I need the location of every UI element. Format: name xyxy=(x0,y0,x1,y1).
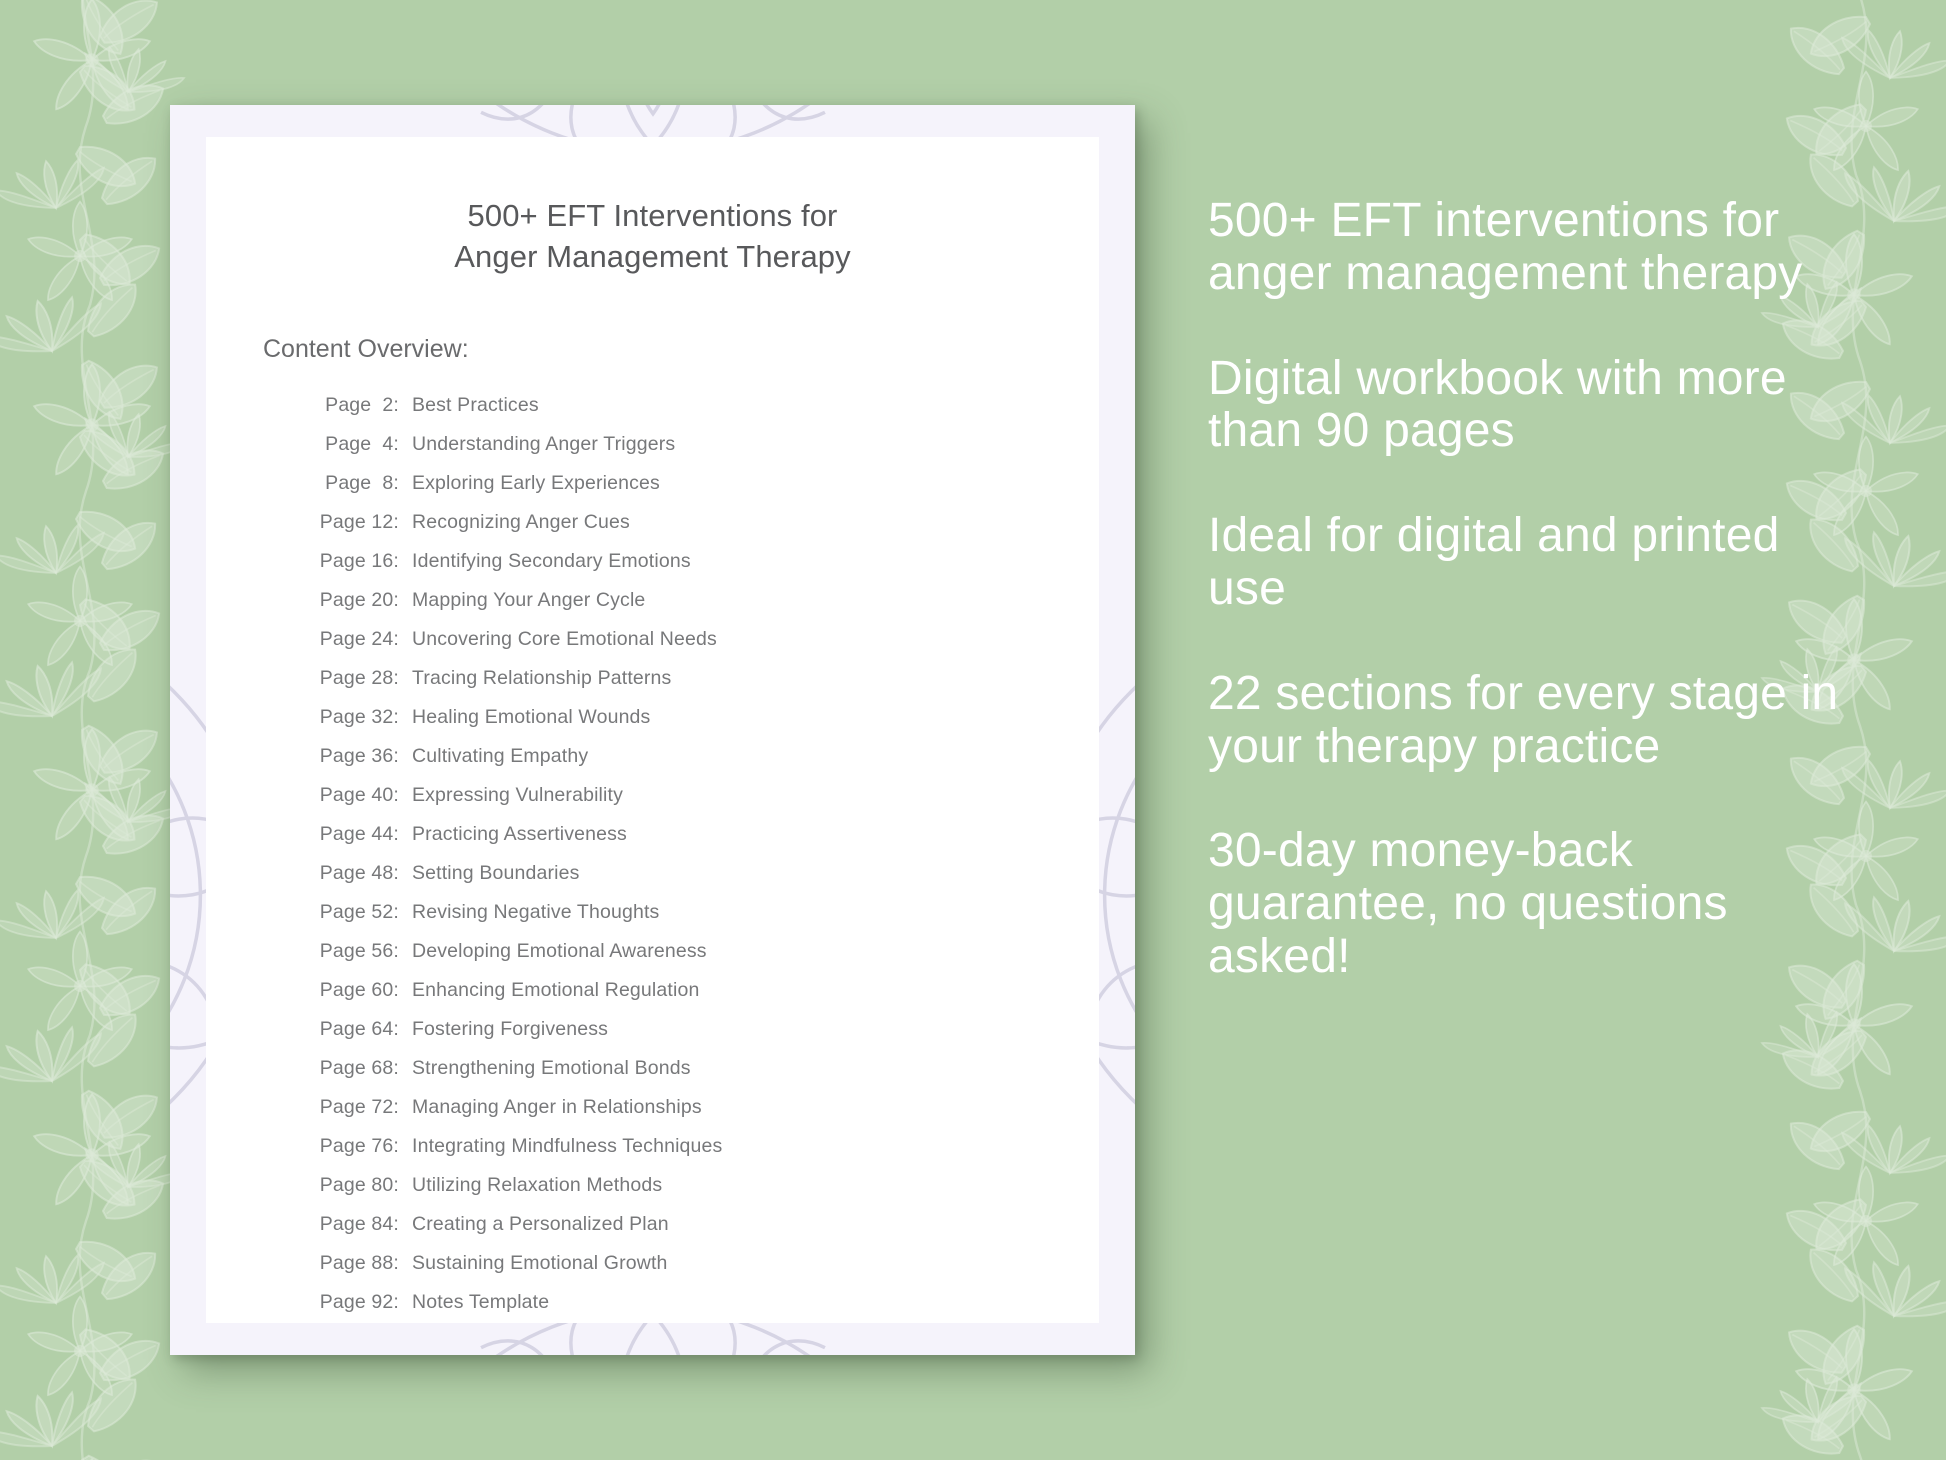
toc-page-number: Page 84: xyxy=(291,1213,399,1236)
promo-item: Ideal for digital and printed use xyxy=(1208,510,1848,616)
toc-row: Page 16:Identifying Secondary Emotions xyxy=(291,550,1099,589)
toc-row: Page 48:Setting Boundaries xyxy=(291,862,1099,901)
toc-section-title: Uncovering Core Emotional Needs xyxy=(412,628,717,651)
toc-page-number: Page 76: xyxy=(291,1135,399,1158)
toc-page-number: Page 36: xyxy=(291,745,399,768)
page-title-line-1: 500+ EFT Interventions for xyxy=(206,195,1099,236)
toc-row: Page 32:Healing Emotional Wounds xyxy=(291,706,1099,745)
toc-page-number: Page 24: xyxy=(291,628,399,651)
toc-row: Page 24:Uncovering Core Emotional Needs xyxy=(291,628,1099,667)
toc-section-title: Exploring Early Experiences xyxy=(412,472,660,495)
toc-page-number: Page 8: xyxy=(291,472,399,495)
toc-section-title: Recognizing Anger Cues xyxy=(412,511,630,534)
toc-section-title: Healing Emotional Wounds xyxy=(412,706,650,729)
toc-row: Page 64:Fostering Forgiveness xyxy=(291,1018,1099,1057)
toc-row: Page 36:Cultivating Empathy xyxy=(291,745,1099,784)
toc-section-title: Revising Negative Thoughts xyxy=(412,901,659,924)
toc-row: Page 52:Revising Negative Thoughts xyxy=(291,901,1099,940)
table-of-contents: Page 2:Best PracticesPage 4:Understandin… xyxy=(291,394,1099,1330)
toc-page-number: Page 16: xyxy=(291,550,399,573)
toc-section-title: Utilizing Relaxation Methods xyxy=(412,1174,662,1197)
toc-page-number: Page 52: xyxy=(291,901,399,924)
toc-row: Page 2:Best Practices xyxy=(291,394,1099,433)
promo-item: 500+ EFT interventions for anger managem… xyxy=(1208,195,1848,301)
toc-page-number: Page 20: xyxy=(291,589,399,612)
toc-row: Page 4:Understanding Anger Triggers xyxy=(291,433,1099,472)
toc-page-number: Page 2: xyxy=(291,394,399,417)
toc-section-title: Developing Emotional Awareness xyxy=(412,940,707,963)
toc-page-number: Page 4: xyxy=(291,433,399,456)
promo-item: 22 sections for every stage in your ther… xyxy=(1208,668,1848,774)
toc-page-number: Page 56: xyxy=(291,940,399,963)
toc-page-number: Page 80: xyxy=(291,1174,399,1197)
toc-page-number: Page 68: xyxy=(291,1057,399,1080)
toc-page-number: Page 72: xyxy=(291,1096,399,1119)
toc-row: Page 44:Practicing Assertiveness xyxy=(291,823,1099,862)
toc-row: Page 56:Developing Emotional Awareness xyxy=(291,940,1099,979)
toc-row: Page 12:Recognizing Anger Cues xyxy=(291,511,1099,550)
toc-section-title: Expressing Vulnerability xyxy=(412,784,623,807)
toc-row: Page 20:Mapping Your Anger Cycle xyxy=(291,589,1099,628)
page-title-line-2: Anger Management Therapy xyxy=(206,236,1099,277)
toc-page-number: Page 28: xyxy=(291,667,399,690)
page-sheet: 500+ EFT Interventions for Anger Managem… xyxy=(206,137,1099,1323)
toc-section-title: Mapping Your Anger Cycle xyxy=(412,589,645,612)
page-border: 500+ EFT Interventions for Anger Managem… xyxy=(170,105,1135,1355)
toc-row: Page 88:Sustaining Emotional Growth xyxy=(291,1252,1099,1291)
toc-page-number: Page 64: xyxy=(291,1018,399,1041)
toc-section-title: Managing Anger in Relationships xyxy=(412,1096,702,1119)
toc-section-title: Creating a Personalized Plan xyxy=(412,1213,669,1236)
toc-section-title: Practicing Assertiveness xyxy=(412,823,627,846)
toc-section-title: Identifying Secondary Emotions xyxy=(412,550,691,573)
toc-page-number: Page 92: xyxy=(291,1291,399,1314)
toc-section-title: Cultivating Empathy xyxy=(412,745,588,768)
toc-page-number: Page 40: xyxy=(291,784,399,807)
promo-item: 30-day money-back guarantee, no question… xyxy=(1208,825,1848,983)
toc-section-title: Integrating Mindfulness Techniques xyxy=(412,1135,722,1158)
promo-item: Digital workbook with more than 90 pages xyxy=(1208,353,1848,459)
content-overview-label: Content Overview: xyxy=(263,335,1099,364)
toc-page-number: Page 88: xyxy=(291,1252,399,1275)
toc-section-title: Sustaining Emotional Growth xyxy=(412,1252,668,1275)
toc-row: Page 76:Integrating Mindfulness Techniqu… xyxy=(291,1135,1099,1174)
toc-row: Page 92:Notes Template xyxy=(291,1291,1099,1330)
workbook-page-preview: 500+ EFT Interventions for Anger Managem… xyxy=(170,105,1135,1355)
toc-row: Page 8:Exploring Early Experiences xyxy=(291,472,1099,511)
toc-row: Page 60:Enhancing Emotional Regulation xyxy=(291,979,1099,1018)
promo-list: 500+ EFT interventions for anger managem… xyxy=(1208,195,1848,984)
toc-section-title: Fostering Forgiveness xyxy=(412,1018,608,1041)
toc-row: Page 80:Utilizing Relaxation Methods xyxy=(291,1174,1099,1213)
toc-page-number: Page 60: xyxy=(291,979,399,1002)
toc-page-number: Page 44: xyxy=(291,823,399,846)
toc-section-title: Understanding Anger Triggers xyxy=(412,433,675,456)
toc-section-title: Setting Boundaries xyxy=(412,862,579,885)
toc-section-title: Best Practices xyxy=(412,394,539,417)
toc-section-title: Enhancing Emotional Regulation xyxy=(412,979,699,1002)
toc-page-number: Page 32: xyxy=(291,706,399,729)
toc-section-title: Strengthening Emotional Bonds xyxy=(412,1057,691,1080)
toc-row: Page 72:Managing Anger in Relationships xyxy=(291,1096,1099,1135)
toc-page-number: Page 12: xyxy=(291,511,399,534)
toc-section-title: Tracing Relationship Patterns xyxy=(412,667,671,690)
toc-row: Page 28:Tracing Relationship Patterns xyxy=(291,667,1099,706)
toc-section-title: Notes Template xyxy=(412,1291,549,1314)
toc-page-number: Page 48: xyxy=(291,862,399,885)
toc-row: Page 84:Creating a Personalized Plan xyxy=(291,1213,1099,1252)
toc-row: Page 68:Strengthening Emotional Bonds xyxy=(291,1057,1099,1096)
toc-row: Page 40:Expressing Vulnerability xyxy=(291,784,1099,823)
page-title: 500+ EFT Interventions for Anger Managem… xyxy=(206,195,1099,277)
